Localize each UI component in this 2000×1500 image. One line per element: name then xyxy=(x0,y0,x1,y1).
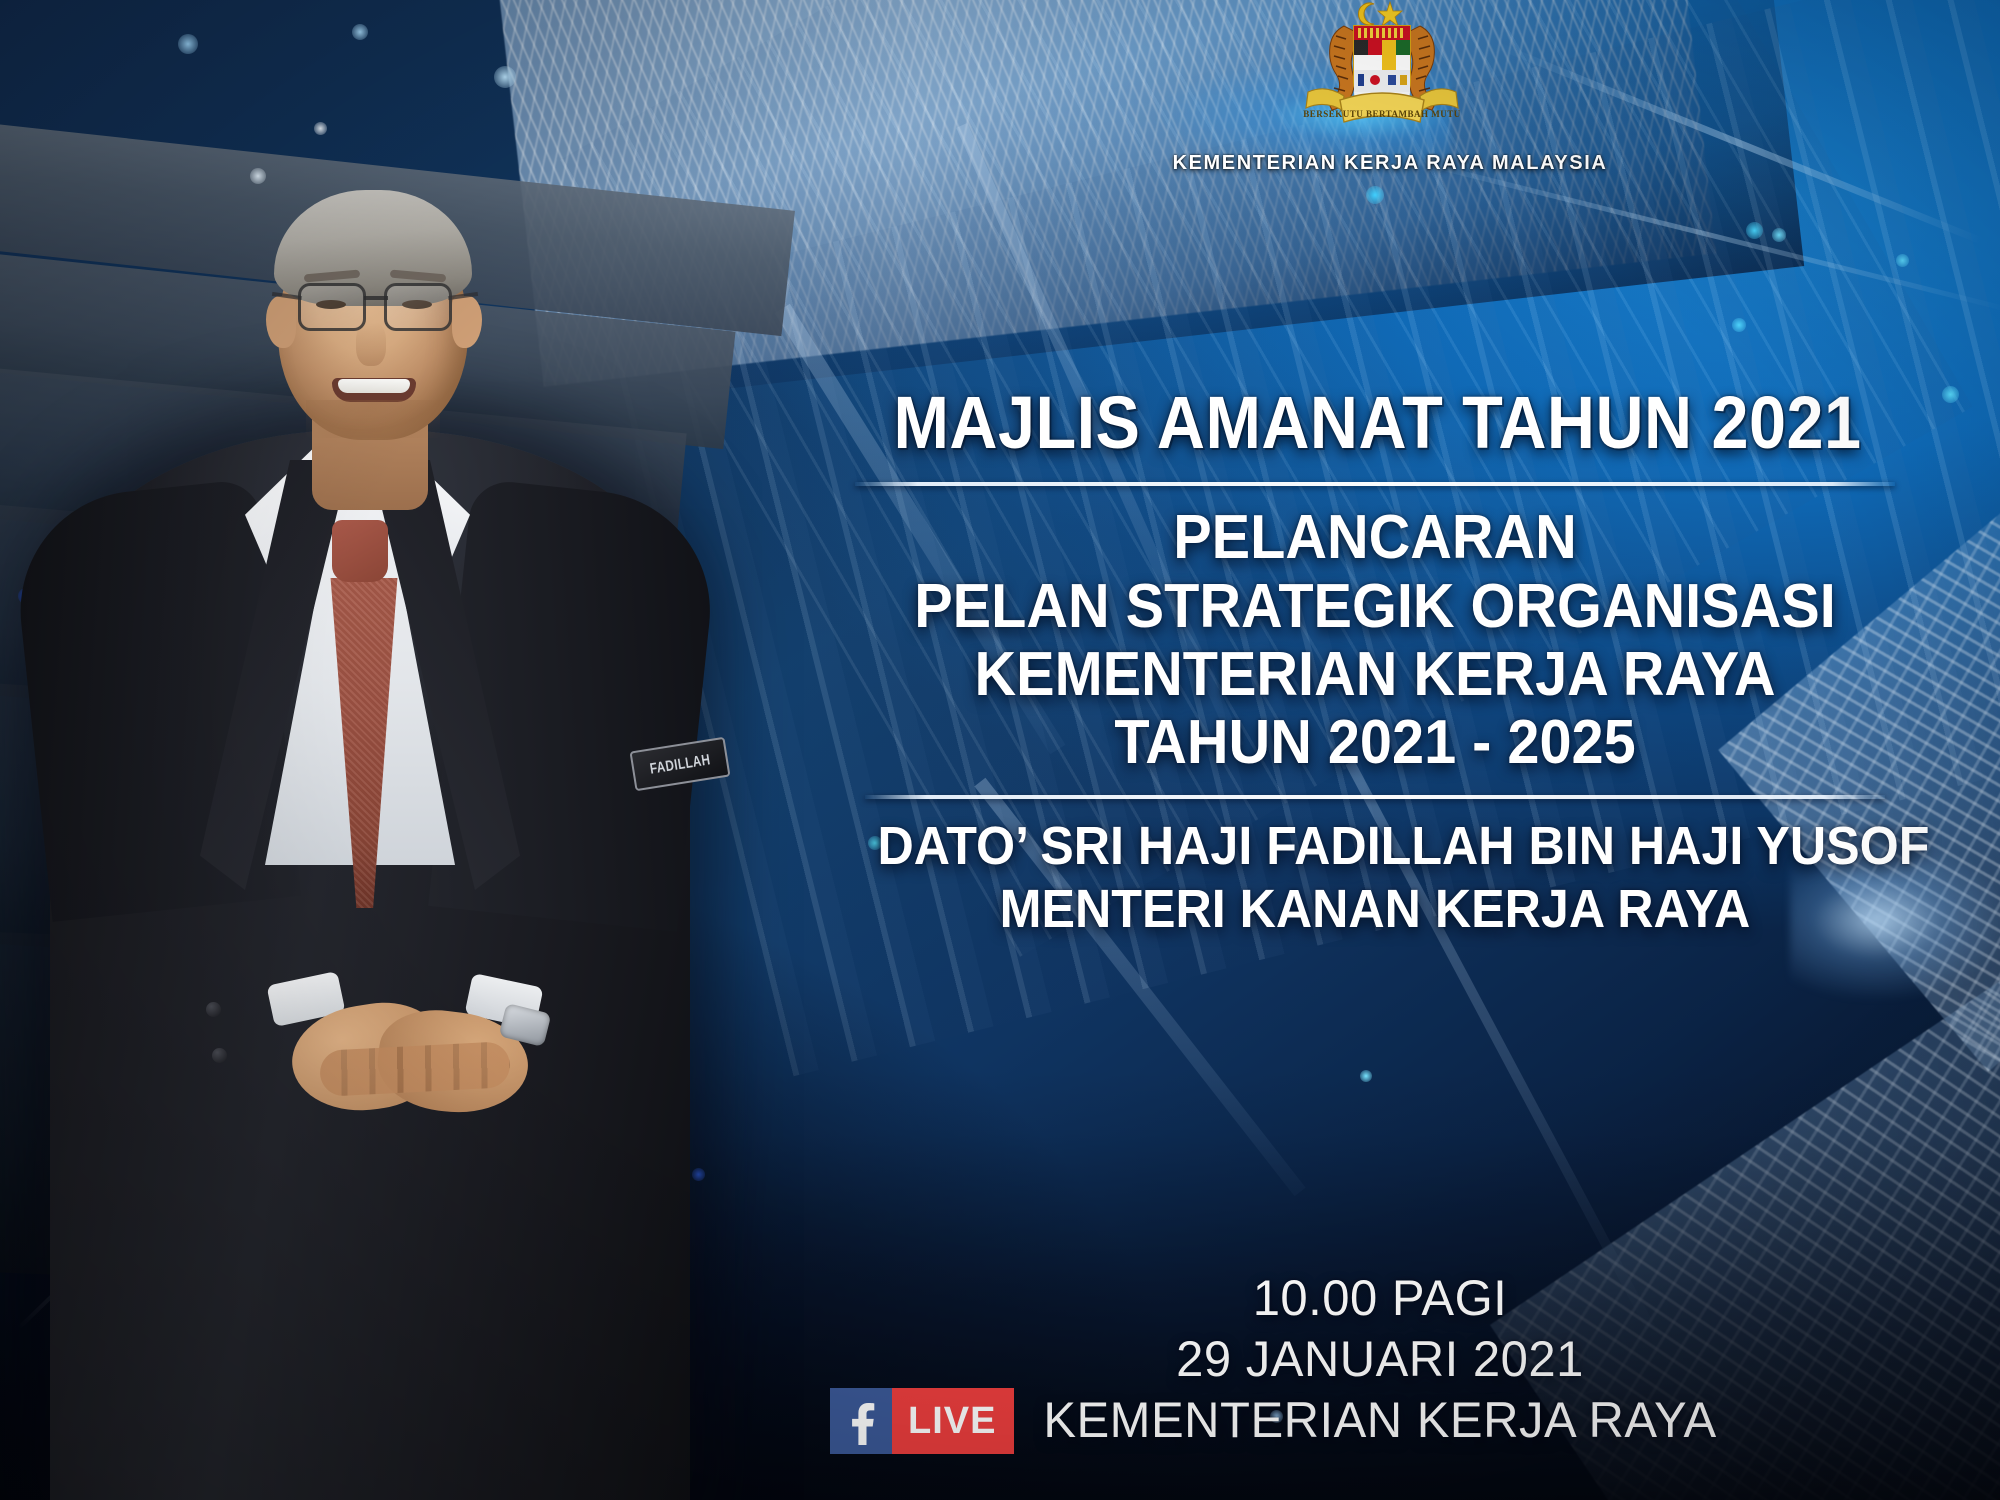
suit-button xyxy=(212,1048,227,1063)
event-poster: FADILLAH xyxy=(0,0,2000,1500)
subtitle-line-1: PELANCARAN xyxy=(877,504,1872,572)
live-label[interactable]: LIVE xyxy=(892,1388,1014,1454)
bokeh-dot xyxy=(352,24,368,40)
bokeh-dot xyxy=(1732,318,1746,332)
malaysia-coat-of-arms-icon: BERSEKUTU BERTAMBAH MUTU xyxy=(1292,0,1472,146)
bokeh-dot xyxy=(494,66,516,88)
ear-right xyxy=(452,296,482,348)
subtitle-line-2: PELAN STRATEGIK ORGANISASI xyxy=(877,573,1872,641)
ministry-name: KEMENTERIAN KERJA RAYA MALAYSIA xyxy=(1160,152,1620,175)
speaker-photo xyxy=(20,100,720,1500)
suit-button xyxy=(206,1002,221,1017)
eyeglasses-bridge xyxy=(364,296,388,300)
event-date: 29 JANUARI 2021 xyxy=(851,1329,1909,1390)
bokeh-dot xyxy=(178,34,198,54)
mouth xyxy=(332,378,416,402)
bokeh-dot xyxy=(1360,1070,1372,1082)
name-badge-text: FADILLAH xyxy=(649,751,712,777)
poster-text-block: MAJLIS AMANAT TAHUN 2021 PELANCARAN PELA… xyxy=(840,385,1910,940)
facebook-live-badge[interactable]: LIVE xyxy=(830,1388,1014,1454)
necktie-knot xyxy=(332,520,388,582)
eyeglasses-lens-left xyxy=(298,283,366,331)
nose xyxy=(356,322,386,366)
bokeh-dot xyxy=(1772,228,1786,242)
bokeh-dot xyxy=(1366,186,1384,204)
bokeh-dot xyxy=(1746,222,1763,239)
speaker-name: DATO’ SRI HAJI FADILLAH BIN HAJI YUSOF xyxy=(877,815,1872,878)
divider-top xyxy=(855,482,1895,486)
facebook-f-icon[interactable] xyxy=(830,1388,892,1454)
bokeh-dot xyxy=(1896,254,1909,267)
event-time: 10.00 PAGI xyxy=(851,1268,1909,1329)
divider-bottom xyxy=(865,795,1885,799)
page-title: MAJLIS AMANAT TAHUN 2021 xyxy=(894,385,1857,460)
event-details: 10.00 PAGI 29 JANUARI 2021 KEMENTERIAN K… xyxy=(840,1268,1920,1451)
eyeglasses-lens-right xyxy=(384,283,452,331)
svg-text:BERSEKUTU BERTAMBAH MUTU: BERSEKUTU BERTAMBAH MUTU xyxy=(1303,109,1461,119)
speaker-title: MENTERI KANAN KERJA RAYA xyxy=(877,878,1872,941)
subtitle-line-4: TAHUN 2021 - 2025 xyxy=(877,709,1872,777)
bokeh-dot xyxy=(1942,386,1959,403)
chin-shadow xyxy=(306,400,440,438)
ear-left xyxy=(266,296,296,348)
teeth xyxy=(338,379,410,393)
subtitle-line-3: KEMENTERIAN KERJA RAYA xyxy=(877,641,1872,709)
